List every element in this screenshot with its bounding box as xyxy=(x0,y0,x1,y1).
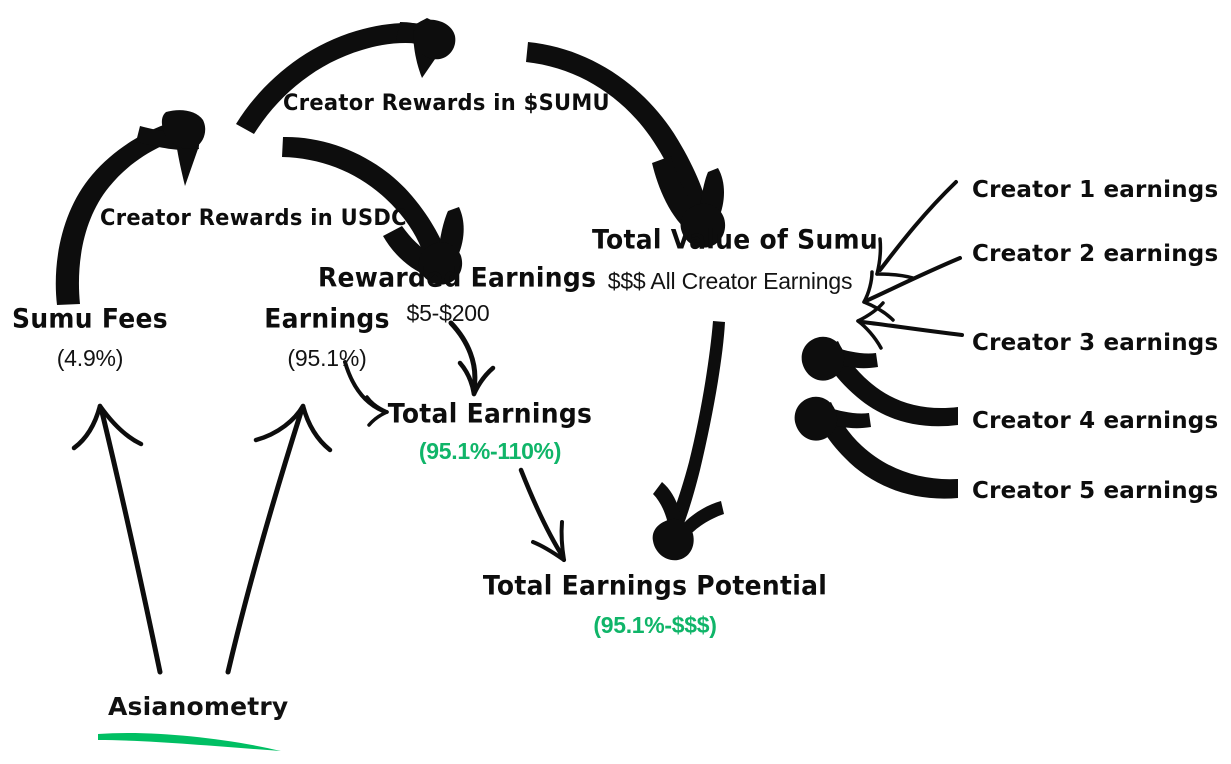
diagram-canvas: Sumu Fees (4.9%) Earnings (95.1%) Creato… xyxy=(0,0,1231,764)
node-total-value-of-sumu-label: Total Value of Sumu xyxy=(592,224,872,255)
brand-logo: Asianometry xyxy=(108,692,308,721)
node-earnings-sublabel: (95.1%) xyxy=(252,345,402,372)
node-total-earnings-label: Total Earnings xyxy=(385,398,595,429)
brand-wordmark: Asianometry xyxy=(108,692,308,721)
node-creator-3-earnings: Creator 3 earnings xyxy=(972,330,1218,356)
node-creator-2-earnings: Creator 2 earnings xyxy=(972,241,1218,267)
node-rewarded-earnings-label: Rewarded Earnings xyxy=(318,262,578,293)
arrow-total-earnings-to-potential xyxy=(521,470,564,560)
node-total-earnings-potential-label: Total Earnings Potential xyxy=(470,570,840,601)
arrow-creator1-to-total-value xyxy=(877,182,956,278)
arrow-creator5-to-total-value xyxy=(795,397,958,499)
edge-label-creator-rewards-sumu: Creator Rewards in $SUMU xyxy=(283,90,583,115)
arrow-rewarded-to-total-earnings xyxy=(451,323,493,394)
arrow-creator4-to-total-value xyxy=(802,337,958,427)
node-creator-5-earnings: Creator 5 earnings xyxy=(972,478,1218,504)
arrow-asianometry-to-sumu-fees xyxy=(74,406,160,672)
node-sumu-fees-sublabel: (4.9%) xyxy=(0,345,180,372)
arrow-asianometry-to-earnings xyxy=(228,406,330,672)
node-creator-1-earnings: Creator 1 earnings xyxy=(972,177,1218,203)
node-total-value-of-sumu-sublabel: $$$ All Creator Earnings xyxy=(580,268,880,295)
arrow-total-value-to-potential xyxy=(653,321,725,560)
node-total-earnings-potential-sublabel: (95.1%-$$$) xyxy=(470,612,840,639)
node-total-earnings-sublabel: (95.1%-110%) xyxy=(385,438,595,465)
node-rewarded-earnings-sublabel: $5-$200 xyxy=(318,300,578,327)
brand-swoosh-icon xyxy=(96,726,296,752)
node-creator-4-earnings: Creator 4 earnings xyxy=(972,408,1218,434)
node-sumu-fees-label: Sumu Fees xyxy=(0,303,180,334)
arrow-layer xyxy=(0,0,1231,764)
arrow-creator3-to-total-value xyxy=(858,303,962,348)
edge-label-creator-rewards-usdc: Creator Rewards in USDC xyxy=(100,205,390,230)
